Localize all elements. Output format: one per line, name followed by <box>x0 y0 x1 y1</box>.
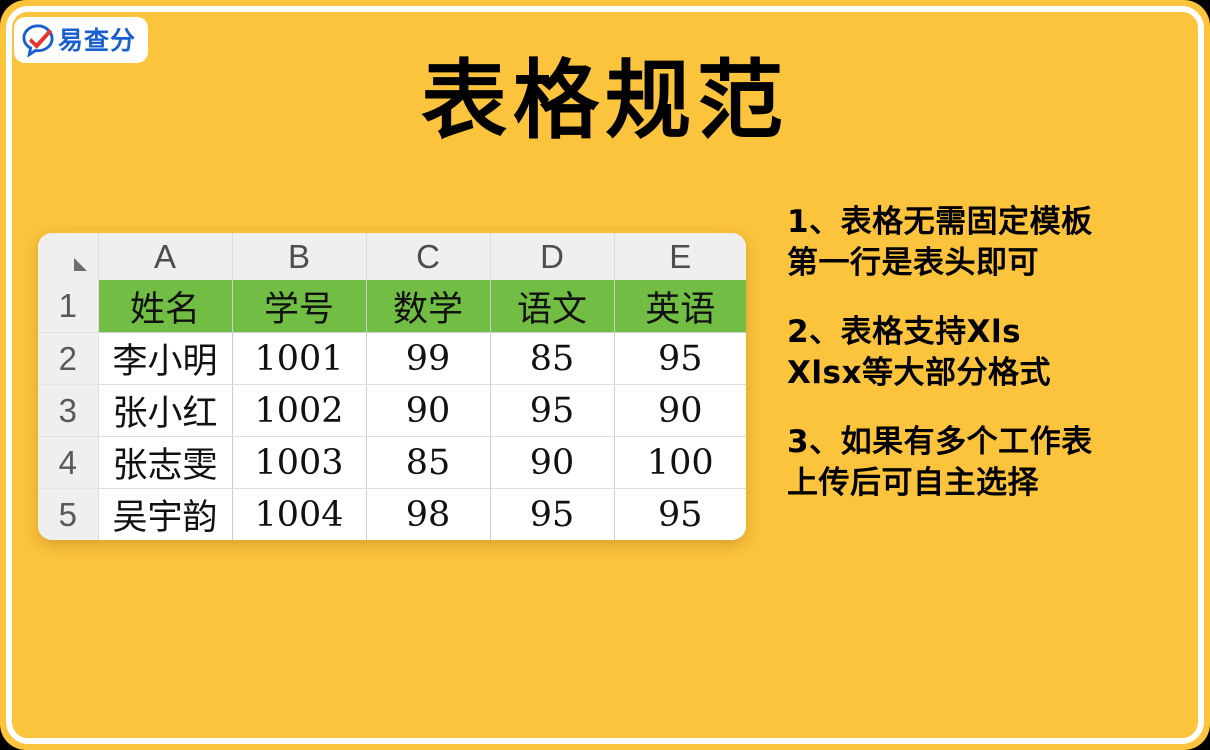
brand-logo[interactable]: 易查分 <box>14 17 148 63</box>
cell-e3[interactable]: 90 <box>614 385 746 437</box>
page-title: 表格规范 <box>0 52 1210 151</box>
cell-c5[interactable]: 98 <box>366 489 490 541</box>
select-all-triangle-icon <box>74 258 87 271</box>
column-header-b[interactable]: B <box>232 233 366 280</box>
slide-canvas: 易查分 表格规范 A B C D E 1 <box>0 0 1210 750</box>
row-number-3[interactable]: 3 <box>38 385 98 437</box>
column-letter-row: A B C D E <box>38 233 746 280</box>
header-cell-chinese[interactable]: 语文 <box>490 280 614 333</box>
table-row: 4 张志雯 1003 85 90 100 <box>38 437 746 489</box>
header-cell-math[interactable]: 数学 <box>366 280 490 333</box>
cell-b2[interactable]: 1001 <box>232 333 366 385</box>
table-row: 5 吴宇韵 1004 98 95 95 <box>38 489 746 541</box>
cell-e2[interactable]: 95 <box>614 333 746 385</box>
table-row: 3 张小红 1002 90 95 90 <box>38 385 746 437</box>
note-1-line-2: 第一行是表头即可 <box>787 243 1187 284</box>
cell-b4[interactable]: 1003 <box>232 437 366 489</box>
note-item-1: 1、表格无需固定模板 第一行是表头即可 <box>787 202 1187 284</box>
cell-a5[interactable]: 吴宇韵 <box>98 489 232 541</box>
column-header-d[interactable]: D <box>490 233 614 280</box>
spreadsheet-table: A B C D E 1 姓名 学号 数学 语文 英语 2 李小明 <box>38 233 746 540</box>
header-cell-student-id[interactable]: 学号 <box>232 280 366 333</box>
cell-a3[interactable]: 张小红 <box>98 385 232 437</box>
column-header-c[interactable]: C <box>366 233 490 280</box>
speech-bubble-check-icon <box>20 23 56 57</box>
cell-a4[interactable]: 张志雯 <box>98 437 232 489</box>
column-header-a[interactable]: A <box>98 233 232 280</box>
row-number-5[interactable]: 5 <box>38 489 98 541</box>
cell-b3[interactable]: 1002 <box>232 385 366 437</box>
notes-list: 1、表格无需固定模板 第一行是表头即可 2、表格支持Xls Xlsx等大部分格式… <box>787 202 1187 503</box>
cell-d4[interactable]: 90 <box>490 437 614 489</box>
brand-logo-text: 易查分 <box>58 28 136 53</box>
row-number-1[interactable]: 1 <box>38 280 98 333</box>
table-row: 2 李小明 1001 99 85 95 <box>38 333 746 385</box>
table-header-row: 1 姓名 学号 数学 语文 英语 <box>38 280 746 333</box>
cell-e4[interactable]: 100 <box>614 437 746 489</box>
select-all-corner[interactable] <box>38 233 98 280</box>
header-cell-name[interactable]: 姓名 <box>98 280 232 333</box>
cell-d3[interactable]: 95 <box>490 385 614 437</box>
note-1-line-1: 1、表格无需固定模板 <box>787 202 1187 243</box>
cell-b5[interactable]: 1004 <box>232 489 366 541</box>
note-item-2: 2、表格支持Xls Xlsx等大部分格式 <box>787 312 1187 394</box>
row-number-4[interactable]: 4 <box>38 437 98 489</box>
note-3-line-2: 上传后可自主选择 <box>787 463 1187 504</box>
cell-e5[interactable]: 95 <box>614 489 746 541</box>
row-number-2[interactable]: 2 <box>38 333 98 385</box>
note-item-3: 3、如果有多个工作表 上传后可自主选择 <box>787 422 1187 504</box>
cell-d2[interactable]: 85 <box>490 333 614 385</box>
cell-d5[interactable]: 95 <box>490 489 614 541</box>
cell-c3[interactable]: 90 <box>366 385 490 437</box>
cell-c2[interactable]: 99 <box>366 333 490 385</box>
column-header-e[interactable]: E <box>614 233 746 280</box>
note-2-line-1: 2、表格支持Xls <box>787 312 1187 353</box>
note-3-line-1: 3、如果有多个工作表 <box>787 422 1187 463</box>
spreadsheet-card: A B C D E 1 姓名 学号 数学 语文 英语 2 李小明 <box>38 233 746 540</box>
note-2-line-2: Xlsx等大部分格式 <box>787 353 1187 394</box>
cell-a2[interactable]: 李小明 <box>98 333 232 385</box>
cell-c4[interactable]: 85 <box>366 437 490 489</box>
header-cell-english[interactable]: 英语 <box>614 280 746 333</box>
